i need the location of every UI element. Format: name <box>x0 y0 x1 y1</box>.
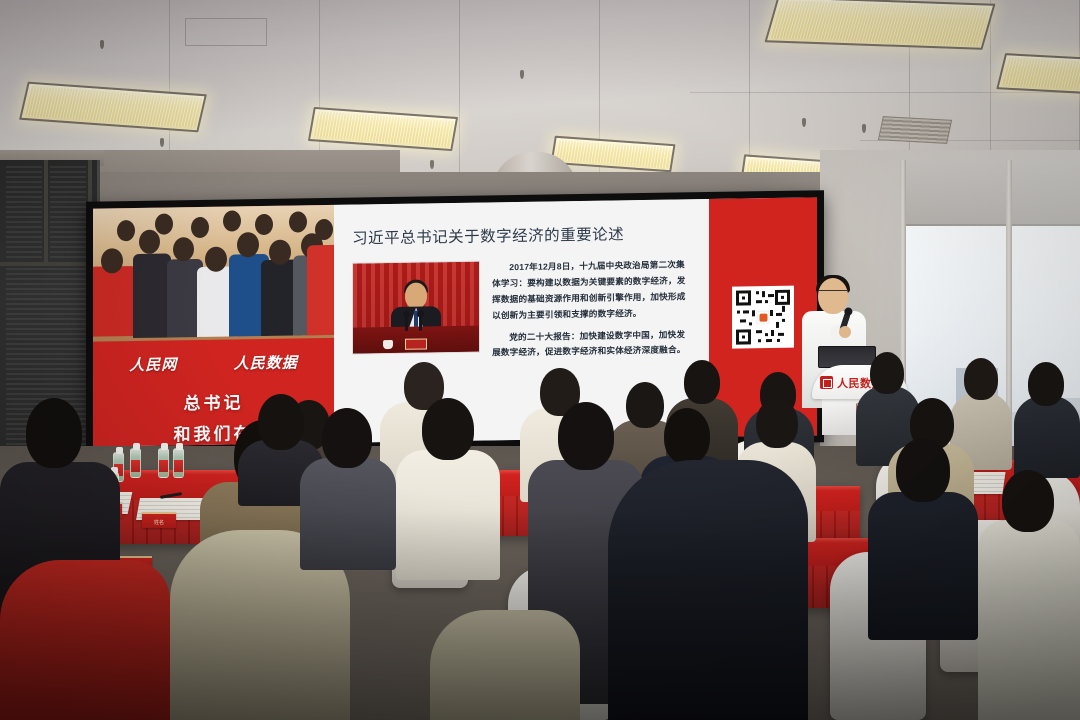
slide-body: 2017年12月8日，十九届中央政治局第二次集体学习：要构建以数据为关键要素的数… <box>352 257 693 370</box>
audience-member <box>0 560 170 720</box>
renminwang-logo: 人民网 <box>129 353 177 375</box>
sprinkler-head <box>862 124 866 133</box>
presenter-hand <box>839 326 851 338</box>
podium-logo-icon <box>820 376 833 389</box>
slide-title: 习近平总书记关于数字经济的重要论述 <box>352 221 693 248</box>
name-card: 姓名 <box>142 512 176 528</box>
photo-subject-head <box>405 282 427 308</box>
photo-microphone <box>419 315 422 331</box>
photo-teacup <box>383 340 393 349</box>
caption-line-1: 总书记 <box>184 388 244 414</box>
photo-microphone <box>405 315 408 331</box>
sprinkler-head <box>520 70 524 79</box>
renminshuju-logo: 人民数据 <box>234 351 298 373</box>
slide-paragraph-2: 党的二十大报告：加快建设数字中国，加快发展数字经济，促进数字经济和实体经济深度融… <box>492 327 693 362</box>
sprinkler-head <box>100 40 104 49</box>
sprinkler-head <box>430 160 434 169</box>
audience-member <box>396 398 500 578</box>
audience-member <box>300 408 396 568</box>
qr-center-logo <box>757 311 770 324</box>
window-roller-blind[interactable] <box>900 160 1080 226</box>
audience-member <box>978 470 1080 720</box>
presenter-glasses <box>819 290 847 296</box>
ceiling-light <box>996 53 1080 95</box>
sprinkler-head <box>802 118 806 127</box>
ceiling-access-panel <box>185 18 267 46</box>
presenter-head <box>818 278 848 314</box>
photo-nameplate <box>405 338 427 349</box>
audience-member <box>868 438 978 638</box>
audience-member <box>1014 362 1080 474</box>
conference-room-scene: 人民网 人民数据 总书记 和我们在 习近平总书记关于数字经济的重要论述 <box>0 0 1080 720</box>
ceiling-light <box>765 0 996 50</box>
slide-paragraphs: 2017年12月8日，十九届中央政治局第二次集体学习：要构建以数据为关键要素的数… <box>492 257 693 368</box>
water-bottle[interactable] <box>173 448 184 478</box>
audience-member <box>608 460 808 720</box>
sprinkler-head <box>160 138 164 147</box>
water-bottle[interactable] <box>158 448 169 478</box>
qr-code[interactable] <box>732 286 794 349</box>
audience-member <box>430 610 580 720</box>
water-bottle[interactable] <box>130 448 141 478</box>
slide-paragraph-1: 2017年12月8日，十九届中央政治局第二次集体学习：要构建以数据为关键要素的数… <box>492 257 693 324</box>
logo-row: 人民网 人民数据 <box>93 338 334 389</box>
leader-photo <box>352 261 480 355</box>
group-photo <box>93 205 334 341</box>
air-vent <box>878 116 952 144</box>
